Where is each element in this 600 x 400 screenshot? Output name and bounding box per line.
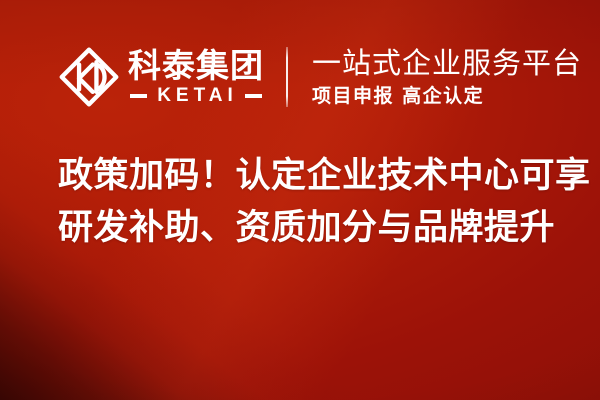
ketai-kd-monogram-diamond-icon (58, 46, 120, 108)
brand-wordmark: 科泰集团 KETAI (128, 48, 264, 106)
headline-block: 政策加码！认定企业技术中心可享 研发补助、资质加分与品牌提升 (58, 150, 558, 254)
promo-banner: 科泰集团 KETAI 一站式企业服务平台 项目申报 高企认定 政策加码！认定企业… (0, 0, 600, 400)
brand-rule-left-icon (130, 94, 147, 98)
tagline-sub: 项目申报 高企认定 (312, 83, 582, 109)
brand-header: 科泰集团 KETAI 一站式企业服务平台 项目申报 高企认定 (58, 38, 582, 116)
tagline-block: 一站式企业服务平台 项目申报 高企认定 (312, 46, 582, 109)
vertical-divider-icon (286, 47, 288, 107)
brand-latin-row: KETAI (128, 86, 264, 106)
headline-line-2: 研发补助、资质加分与品牌提升 (58, 202, 558, 254)
brand-name-cn: 科泰集团 (128, 48, 264, 84)
brand-name-latin: KETAI (147, 86, 245, 106)
tagline-main: 一站式企业服务平台 (312, 46, 582, 80)
headline-line-1: 政策加码！认定企业技术中心可享 (58, 150, 558, 202)
brand-rule-right-icon (245, 94, 262, 98)
